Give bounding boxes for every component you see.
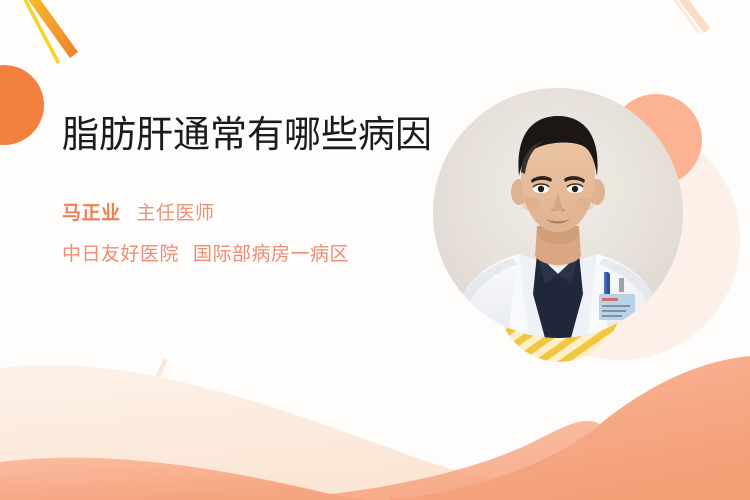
doctor-info-card: 脂肪肝通常有哪些病因 马正业 主任医师 中日友好医院国际部病房一病区	[0, 0, 750, 500]
text-block: 脂肪肝通常有哪些病因 马正业 主任医师 中日友好医院国际部病房一病区	[62, 112, 432, 266]
hospital-line: 中日友好医院国际部病房一病区	[62, 239, 432, 266]
doctor-title: 主任医师	[137, 198, 215, 225]
doctor-byline: 马正业 主任医师	[62, 198, 432, 225]
page-title: 脂肪肝通常有哪些病因	[62, 112, 432, 158]
doctor-name: 马正业	[62, 198, 121, 225]
department-name: 国际部病房一病区	[193, 244, 349, 265]
hospital-name: 中日友好医院	[62, 244, 179, 265]
